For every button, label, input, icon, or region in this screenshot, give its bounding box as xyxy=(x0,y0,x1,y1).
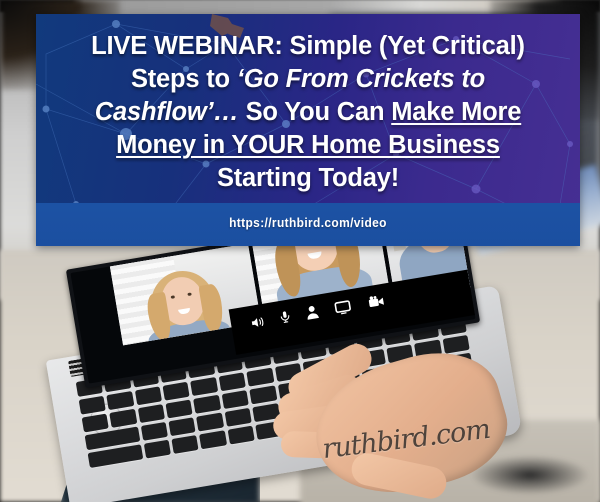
key xyxy=(107,391,134,410)
key xyxy=(138,404,165,423)
headline: LIVE WEBINAR: Simple (Yet Critical) Step… xyxy=(36,30,580,195)
key xyxy=(141,422,168,441)
key xyxy=(82,414,109,433)
headline-seg-plain: LIVE WEBINAR: Simple (Yet Critical) xyxy=(91,32,525,60)
headline-seg-plain: Steps to xyxy=(131,65,237,93)
key xyxy=(191,377,218,396)
headline-line-5: Starting Today! xyxy=(46,162,570,195)
key xyxy=(163,382,190,401)
headline-seg-plain: So You Can xyxy=(239,98,392,126)
url-band: https://ruthbird.com/video xyxy=(36,203,580,246)
key xyxy=(199,430,226,449)
key xyxy=(219,372,246,391)
key xyxy=(196,413,223,432)
key xyxy=(110,409,137,428)
headline-seg-underline: Make More xyxy=(391,98,521,126)
key xyxy=(171,435,198,454)
key xyxy=(194,395,221,414)
key xyxy=(135,386,162,405)
promo-image: LIVE WEBINAR: Simple (Yet Critical) Step… xyxy=(0,0,600,502)
headline-seg-plain: Starting Today! xyxy=(217,164,399,192)
headline-seg-italic: ‘Go From Crickets to xyxy=(237,65,485,93)
key xyxy=(169,417,196,436)
webinar-url[interactable]: https://ruthbird.com/video xyxy=(58,215,558,230)
key xyxy=(224,408,251,427)
headline-line-2: Steps to ‘Go From Crickets to xyxy=(46,63,570,96)
headline-seg-italic: Cashflow’… xyxy=(95,98,239,126)
headline-line-4: Money in YOUR Home Business xyxy=(46,129,570,162)
key xyxy=(227,426,254,445)
headline-line-3: Cashflow’… So You Can Make More xyxy=(46,96,570,129)
hand-typing xyxy=(255,300,535,500)
key xyxy=(79,396,106,415)
key xyxy=(221,390,248,409)
key xyxy=(166,399,193,418)
headline-line-1: LIVE WEBINAR: Simple (Yet Critical) xyxy=(46,30,570,63)
headline-seg-underline: Money in YOUR Home Business xyxy=(116,131,500,159)
key xyxy=(144,440,171,459)
promo-banner: LIVE WEBINAR: Simple (Yet Critical) Step… xyxy=(36,14,580,246)
